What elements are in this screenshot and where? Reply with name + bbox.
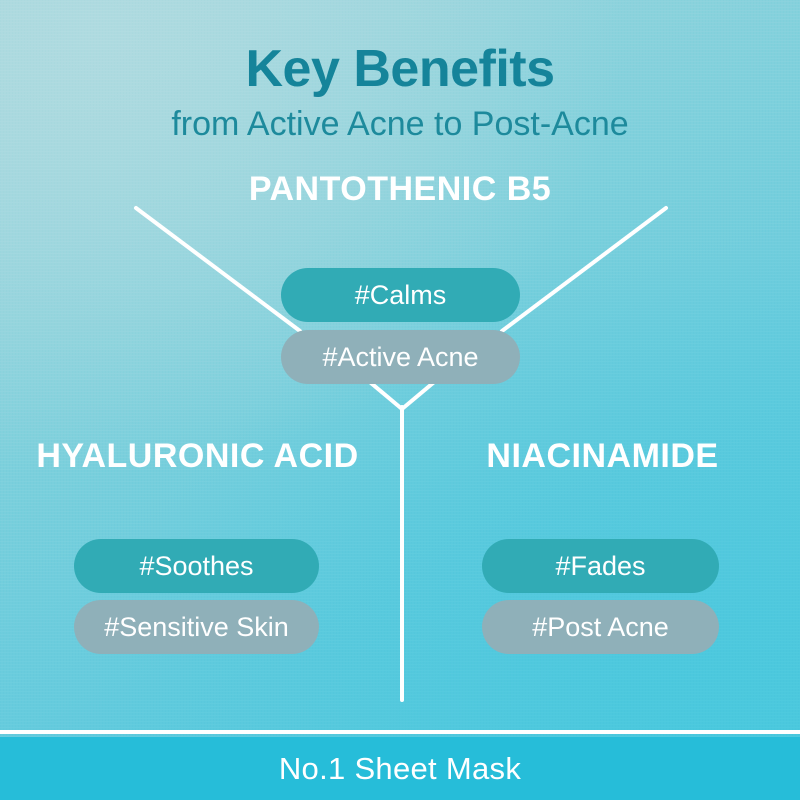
banner-divider-rule [0,730,800,734]
tag-active-acne[interactable]: #Active Acne [281,330,520,384]
connector-line-left [136,208,300,331]
ingredient-heading-niacinamide: NIACINAMIDE [425,437,780,475]
page-title: Key Benefits [0,42,800,97]
tag-post-acne[interactable]: #Post Acne [482,600,719,654]
key-benefits-infographic: Key Benefits from Active Acne to Post-Ac… [0,0,800,800]
tag-fades[interactable]: #Fades [482,539,719,593]
banner-text: No.1 Sheet Mask [279,751,521,787]
tag-soothes[interactable]: #Soothes [74,539,319,593]
tag-calms[interactable]: #Calms [281,268,520,322]
page-subtitle: from Active Acne to Post-Acne [0,105,800,144]
ingredient-heading-pantothenic-b5: PANTOTHENIC B5 [200,170,600,208]
bottom-banner: No.1 Sheet Mask [0,737,800,800]
tag-sensitive-skin[interactable]: #Sensitive Skin [74,600,319,654]
ingredient-heading-hyaluronic-acid: HYALURONIC ACID [20,437,375,475]
header: Key Benefits from Active Acne to Post-Ac… [0,42,800,144]
connector-line-right [502,208,666,331]
